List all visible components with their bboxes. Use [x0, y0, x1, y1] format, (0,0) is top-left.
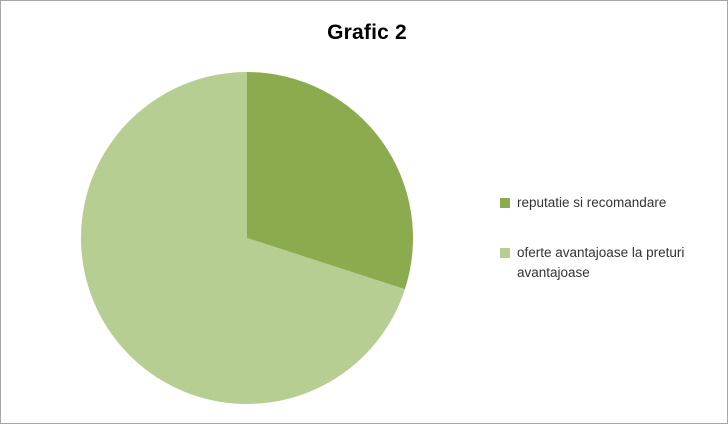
legend: reputatie si recomandare oferte avantajo…: [500, 193, 715, 283]
pie-chart-plot-area: [80, 71, 414, 405]
page-title: Grafic 2: [1, 19, 728, 47]
legend-item-oferte[interactable]: oferte avantajoase la preturi avantajoas…: [500, 243, 715, 283]
legend-item-reputatie[interactable]: reputatie si recomandare: [500, 193, 715, 213]
legend-swatch-oferte-icon: [500, 248, 510, 258]
pie-chart-svg: [80, 71, 414, 405]
legend-swatch-reputatie-icon: [500, 198, 510, 208]
legend-item-label: reputatie si recomandare: [517, 193, 715, 213]
chart-title-text: Grafic 2: [327, 19, 407, 47]
legend-item-label: oferte avantajoase la preturi avantajoas…: [517, 243, 715, 283]
chart-container: Grafic 2 reputatie si recomandare oferte…: [0, 0, 728, 424]
